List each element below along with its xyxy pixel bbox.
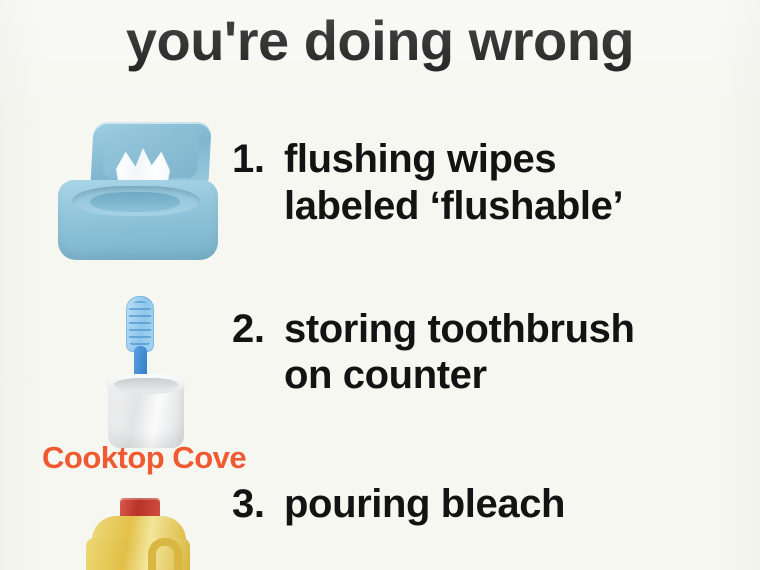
list-item-line: labeled ‘flushable’ bbox=[284, 183, 752, 230]
social-graphic-frame: you're doing wrong 1. flushing wipes bbox=[0, 0, 760, 570]
list-item: 1. flushing wipes labeled ‘flushable’ bbox=[232, 136, 752, 230]
list-item-text: pouring bleach bbox=[284, 481, 752, 528]
numbered-list: 1. flushing wipes labeled ‘flushable’ 2.… bbox=[232, 136, 752, 528]
list-item-number: 3. bbox=[232, 481, 284, 528]
wipes-opening-shape bbox=[90, 192, 180, 212]
list-item-number: 1. bbox=[232, 136, 284, 183]
list-item-text: flushing wipes labeled ‘flushable’ bbox=[284, 136, 752, 230]
watermark-brand: Cooktop Cove bbox=[42, 440, 246, 476]
list-item-line: flushing wipes bbox=[284, 136, 752, 183]
toothbrush-bristles-shape bbox=[129, 301, 151, 345]
wipes-box-icon bbox=[56, 122, 224, 262]
list-item: 3. pouring bleach bbox=[232, 481, 752, 528]
list-item-number: 2. bbox=[232, 306, 284, 353]
list-item-text: storing toothbrush on counter bbox=[284, 306, 752, 400]
list-item: 2. storing toothbrush on counter bbox=[232, 306, 752, 400]
cup-opening-shape bbox=[114, 378, 178, 391]
toothbrush-in-cup-icon bbox=[92, 296, 202, 448]
list-item-line: storing toothbrush bbox=[284, 306, 752, 353]
bleach-bottle-icon bbox=[78, 498, 198, 570]
bleach-handle-shape bbox=[148, 538, 182, 570]
list-item-line: on counter bbox=[284, 352, 752, 399]
list-item-line: pouring bleach bbox=[284, 481, 752, 528]
page-title: you're doing wrong bbox=[0, 12, 760, 71]
